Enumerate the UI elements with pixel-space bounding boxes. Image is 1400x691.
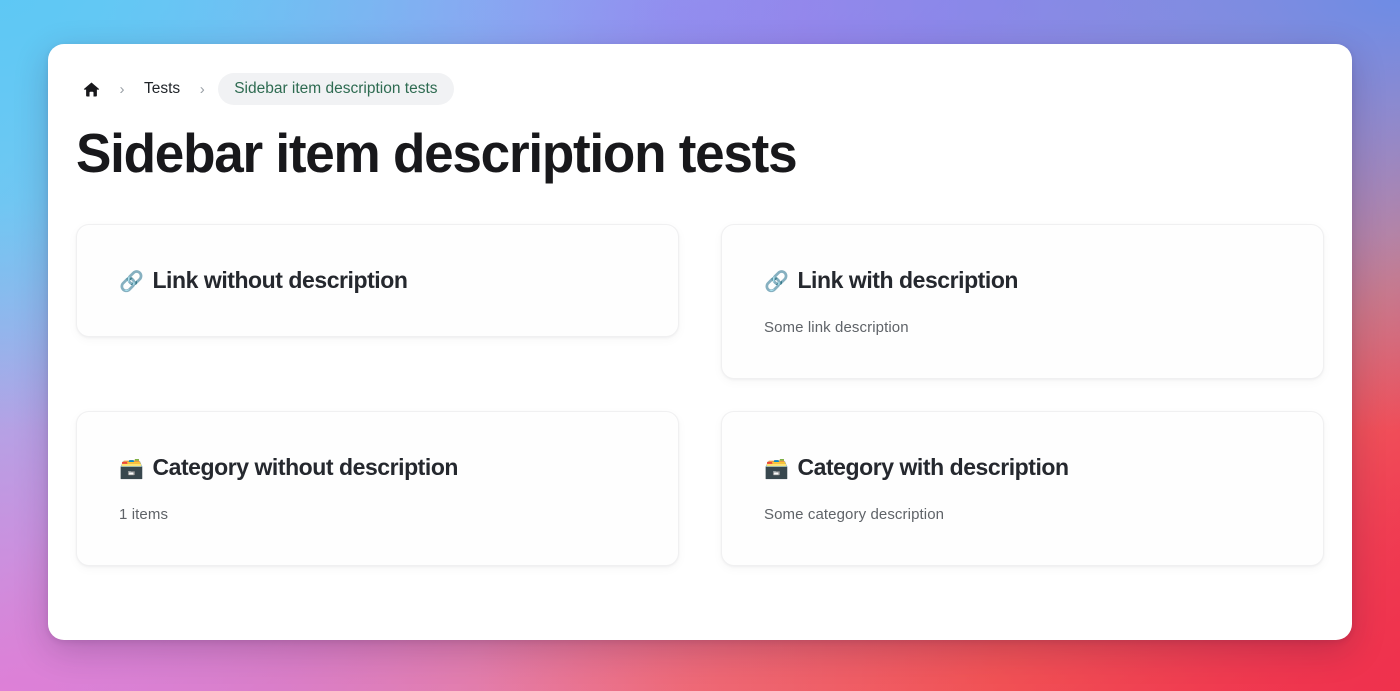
card-description: Some link description [764,319,1281,336]
card-title: 🗃️ Category without description [119,454,636,481]
card-grid: 🔗 Link without description 🔗 Link with d… [76,224,1324,566]
card-title: 🔗 Link with description [764,267,1281,294]
card-title-text: Category without description [152,454,458,481]
card-title-text: Link with description [797,267,1018,294]
card-link-with-description[interactable]: 🔗 Link with description Some link descri… [721,224,1324,379]
card-file-box-icon: 🗃️ [119,458,143,478]
panel-content: › Tests › Sidebar item description tests… [48,44,1352,640]
breadcrumb-item-tests[interactable]: Tests [138,76,186,102]
app-panel: › Tests › Sidebar item description tests… [48,44,1352,640]
card-link-without-description[interactable]: 🔗 Link without description [76,224,679,337]
breadcrumb-item-current: Sidebar item description tests [218,73,453,105]
card-item-count: 1 items [119,506,636,523]
page-title: Sidebar item description tests [76,124,1280,183]
card-title: 🔗 Link without description [119,267,636,294]
card-category-with-description[interactable]: 🗃️ Category with description Some catego… [721,411,1324,566]
card-description: Some category description [764,506,1281,523]
home-icon[interactable] [76,74,106,104]
breadcrumb-separator-2: › [186,74,218,104]
breadcrumb-separator-1: › [106,74,138,104]
desktop-background: › Tests › Sidebar item description tests… [0,0,1400,691]
breadcrumb: › Tests › Sidebar item description tests [76,72,1324,106]
card-title-text: Link without description [152,267,407,294]
card-title: 🗃️ Category with description [764,454,1281,481]
link-icon: 🔗 [119,271,143,291]
card-file-box-icon: 🗃️ [764,458,788,478]
link-icon: 🔗 [764,271,788,291]
card-category-without-description[interactable]: 🗃️ Category without description 1 items [76,411,679,566]
card-title-text: Category with description [797,454,1068,481]
